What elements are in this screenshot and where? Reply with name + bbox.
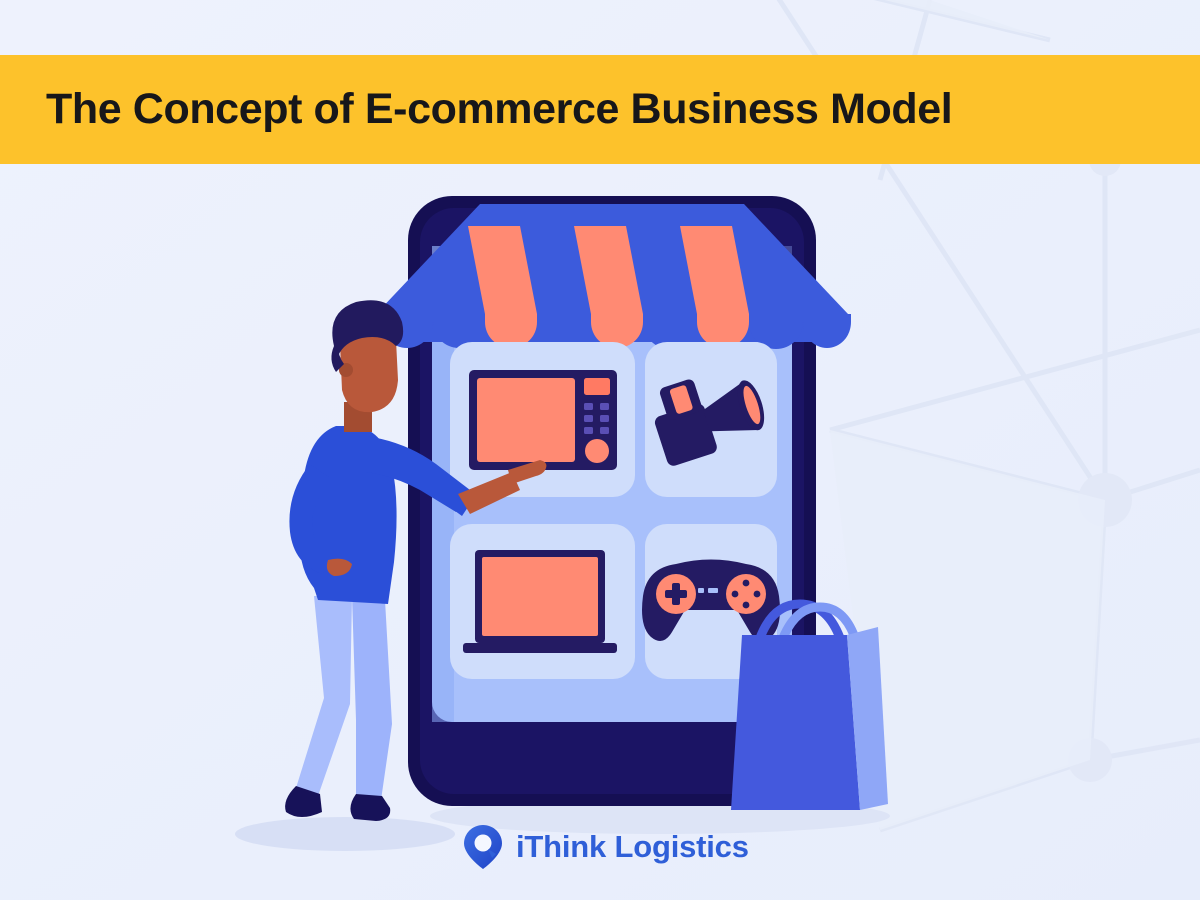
person-shoe-back bbox=[350, 794, 390, 821]
brand-name: iThink Logistics bbox=[516, 829, 749, 865]
person-leg-front bbox=[296, 596, 352, 796]
product-card-microwave bbox=[450, 342, 635, 497]
brand-logo: iThink Logistics bbox=[462, 824, 749, 870]
shopping-bag-front bbox=[731, 635, 860, 810]
product-card-camera bbox=[645, 342, 777, 497]
location-pin-icon bbox=[462, 824, 504, 870]
microwave-oven-icon bbox=[469, 370, 617, 470]
product-card-laptop bbox=[450, 524, 635, 679]
page-title: The Concept of E-commerce Business Model bbox=[46, 88, 952, 131]
ground-shadow-person bbox=[235, 817, 455, 851]
hero-illustration bbox=[0, 164, 1200, 900]
person-leg-back bbox=[352, 596, 392, 800]
laptop-icon bbox=[463, 550, 617, 653]
page-canvas: The Concept of E-commerce Business Model bbox=[0, 0, 1200, 900]
title-banner: The Concept of E-commerce Business Model bbox=[0, 55, 1200, 164]
